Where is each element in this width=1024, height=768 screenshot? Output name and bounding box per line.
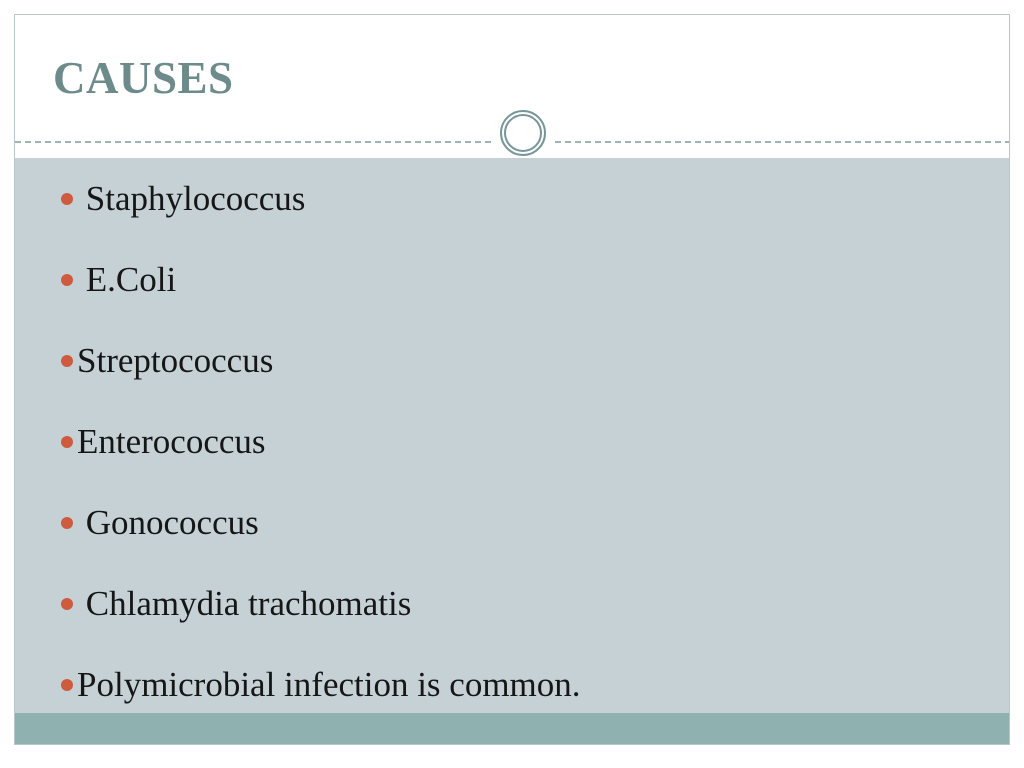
- list-item-label: Gonococcus: [77, 503, 259, 543]
- bullet-dot-icon: [61, 274, 73, 286]
- slide-content-area: Staphylococcus E.Coli Streptococcus Ente…: [15, 158, 1010, 713]
- bullet-dot-icon: [61, 679, 73, 691]
- bullet-dot-icon: [61, 193, 73, 205]
- list-item: Streptococcus: [15, 320, 1010, 401]
- list-item: Gonococcus: [15, 482, 1010, 563]
- list-item-label: Chlamydia trachomatis: [77, 584, 411, 624]
- bullet-dot-icon: [61, 598, 73, 610]
- list-item-label: Polymicrobial infection is common.: [77, 665, 581, 705]
- bullet-dot-icon: [61, 355, 73, 367]
- circle-inner-ring: [504, 114, 542, 152]
- list-item-label: Staphylococcus: [77, 179, 305, 219]
- list-item-label: Streptococcus: [77, 341, 273, 381]
- causes-bullet-list: Staphylococcus E.Coli Streptococcus Ente…: [15, 158, 1010, 725]
- list-item-label: Enterococcus: [77, 422, 266, 462]
- bullet-dot-icon: [61, 517, 73, 529]
- slide-footer-bar: [15, 713, 1010, 745]
- list-item: Enterococcus: [15, 401, 1010, 482]
- bullet-dot-icon: [61, 436, 73, 448]
- list-item: Chlamydia trachomatis: [15, 563, 1010, 644]
- list-item: E.Coli: [15, 239, 1010, 320]
- list-item-label: E.Coli: [77, 260, 176, 300]
- presentation-slide: CAUSES Staphylococcus E.Coli Streptococc…: [14, 14, 1010, 745]
- page-title: CAUSES: [53, 53, 234, 103]
- list-item: Staphylococcus: [15, 158, 1010, 239]
- double-ring-circle-icon: [493, 103, 555, 165]
